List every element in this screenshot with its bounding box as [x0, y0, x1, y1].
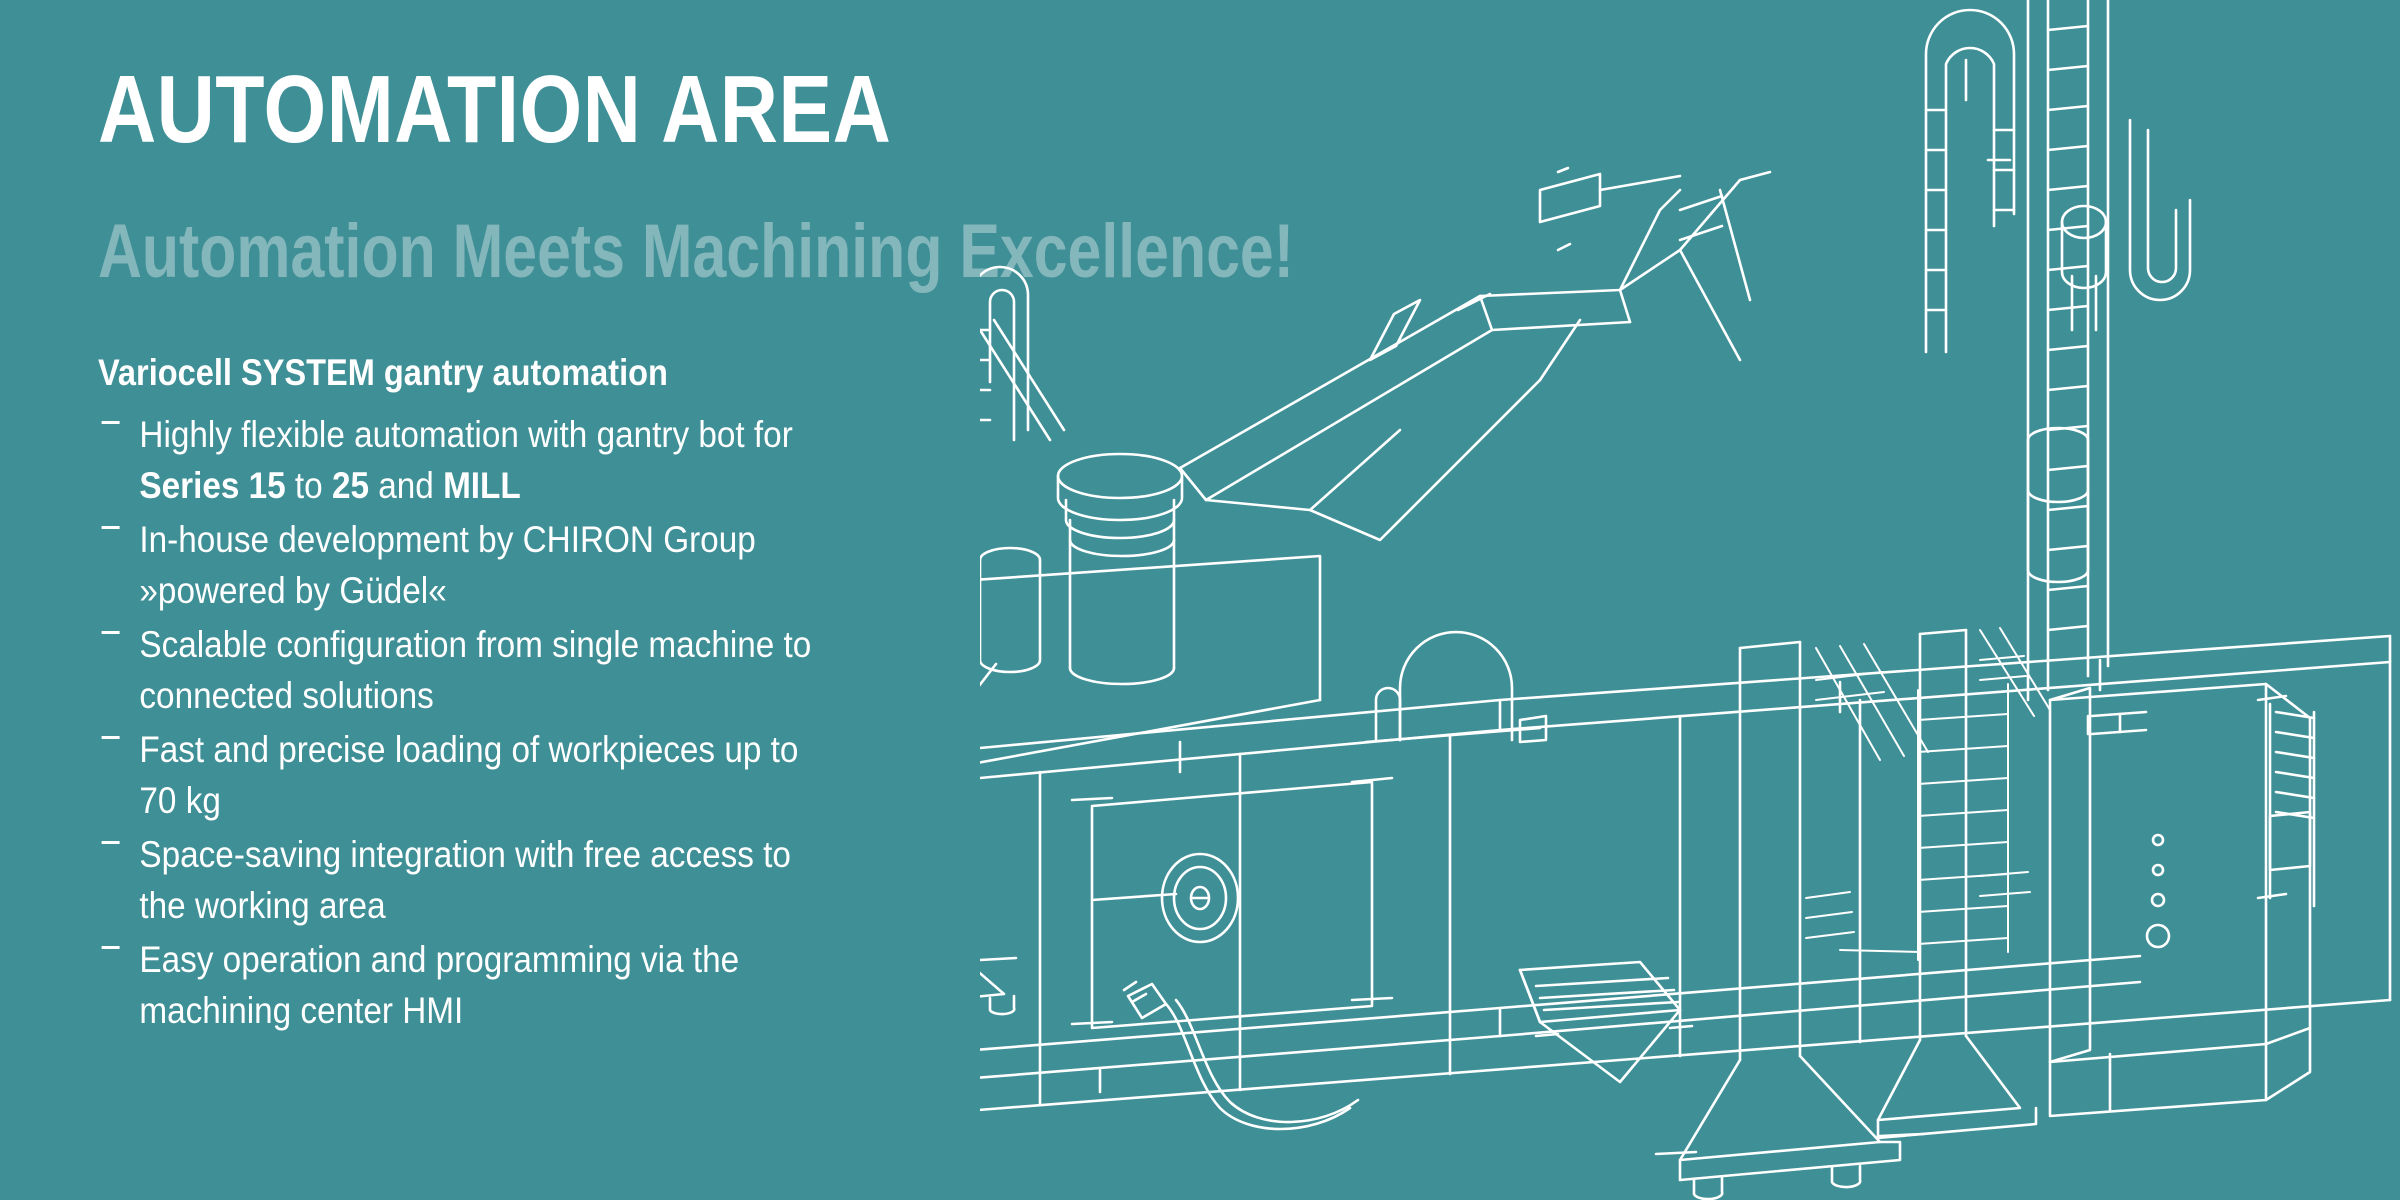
bullet-dash-icon [102, 631, 120, 634]
bullet-dash-icon [102, 736, 120, 739]
enclosure-roof [980, 636, 2390, 790]
cable-chain-loop-upper [1926, 10, 2014, 352]
feature-list-item: Highly flexible automation with gantry b… [98, 409, 841, 511]
bullet-dash-icon [102, 946, 120, 949]
feature-list-item: Easy operation and programming via the m… [98, 934, 841, 1036]
slide-automation-area: AUTOMATION AREA Automation Meets Machini… [0, 0, 2400, 1200]
feature-list-item: Scalable configuration from single machi… [98, 619, 841, 721]
electrical-cabinet [2050, 684, 2314, 1116]
feature-list-item-text: In-house development by CHIRON Group »po… [139, 519, 755, 611]
cable-chain-loop-lower [2130, 120, 2190, 300]
robot-vertical-mast [2028, 0, 2108, 700]
bullet-dash-icon [102, 421, 120, 424]
page-title: AUTOMATION AREA [98, 62, 938, 158]
cabinet-indicator-lights [2147, 835, 2169, 947]
feature-list-item-text: Space-saving integration with free acces… [139, 834, 791, 926]
feature-list-item-text: Scalable configuration from single machi… [139, 624, 811, 716]
bullet-dash-icon [102, 841, 120, 844]
plain-text: In-house development by CHIRON Group »po… [139, 519, 755, 611]
plain-text: and [369, 465, 443, 506]
emphasis-text: 25 [332, 465, 369, 506]
plain-text: Space-saving integration with free acces… [139, 834, 791, 926]
mast-lower-cylinder [2028, 428, 2088, 582]
support-column-center [1656, 642, 1924, 1199]
plain-text: Fast and precise loading of workpieces u… [139, 729, 798, 821]
feature-list-item: Space-saving integration with free acces… [98, 829, 841, 931]
section-heading: Variocell SYSTEM gantry automation [98, 352, 978, 395]
feature-list: Highly flexible automation with gantry b… [98, 409, 998, 1037]
bullet-dash-icon [102, 526, 120, 529]
text-column: AUTOMATION AREA Automation Meets Machini… [98, 62, 1098, 1039]
emphasis-text: MILL [443, 465, 521, 506]
roof-ladder [1840, 684, 2008, 960]
plain-text: Easy operation and programming via the m… [139, 939, 739, 1031]
feature-list-item-text: Highly flexible automation with gantry b… [139, 414, 792, 506]
roof-extraction-unit [1366, 632, 1546, 742]
feature-list-item: Fast and precise loading of workpieces u… [98, 724, 841, 826]
viewport-window [1162, 854, 1238, 942]
page-subtitle: Automation Meets Machining Excellence! [98, 214, 898, 290]
gantry-automation-machine-illustration [980, 0, 2400, 1200]
plain-text: Highly flexible automation with gantry b… [139, 414, 792, 455]
feature-list-item: In-house development by CHIRON Group »po… [98, 514, 841, 616]
emphasis-text: Series 15 [139, 465, 285, 506]
plain-text: Scalable configuration from single machi… [139, 624, 811, 716]
feature-list-item-text: Easy operation and programming via the m… [139, 939, 739, 1031]
enclosure-door-panel [1072, 778, 1392, 1028]
plain-text: to [286, 465, 332, 506]
feature-list-item-text: Fast and precise loading of workpieces u… [139, 729, 798, 821]
